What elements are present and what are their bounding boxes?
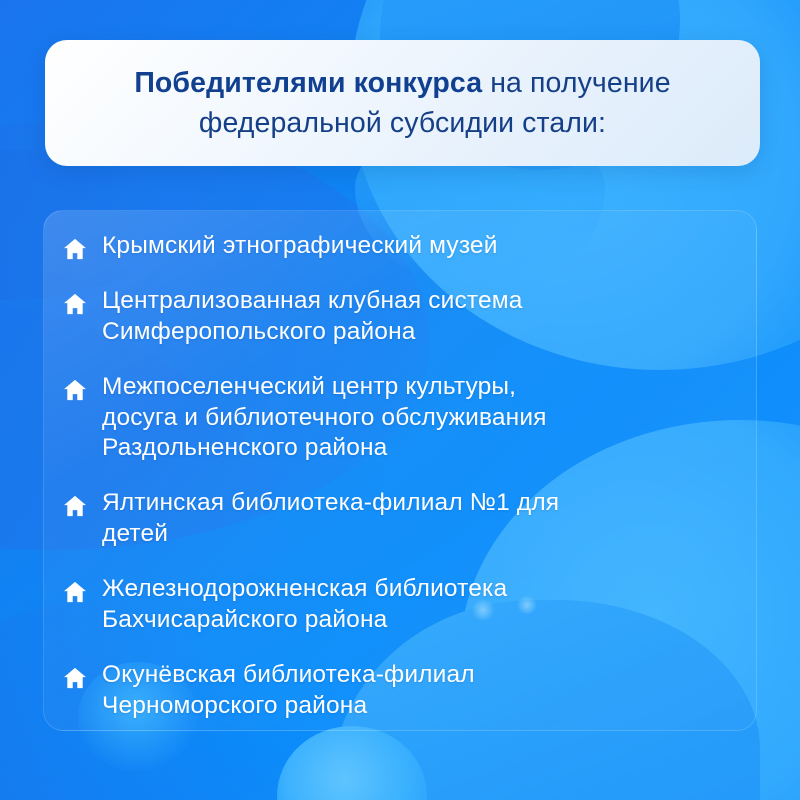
home-icon [62, 291, 88, 317]
page-title: Победителями конкурса на получение федер… [134, 63, 670, 144]
home-icon [62, 377, 88, 403]
list-item: Окунёвская библиотека-филиал Черноморско… [62, 660, 728, 722]
header-card: Победителями конкурса на получение федер… [45, 40, 760, 166]
list-item: Железнодорожненская библиотека Бахчисара… [62, 574, 728, 636]
list-item: Крымский этнографический музей [62, 231, 728, 262]
list-item-label: Крымский этнографический музей [102, 231, 498, 262]
list-item-label: Межпоселенческий центр культуры, досуга … [102, 372, 547, 465]
page-title-rest: на получение [482, 67, 670, 99]
page-title-line2: федеральной субсидии стали: [199, 107, 606, 139]
home-icon [62, 236, 88, 262]
list-item: Ялтинская библиотека-филиал №1 для детей [62, 488, 728, 550]
list-item-label: Железнодорожненская библиотека Бахчисара… [102, 574, 507, 636]
list-item: Межпоселенческий центр культуры, досуга … [62, 372, 728, 465]
winners-list-card: Крымский этнографический музей Централиз… [43, 210, 757, 731]
home-icon [62, 665, 88, 691]
list-item-label: Централизованная клубная система Симферо… [102, 286, 523, 348]
list-item: Централизованная клубная система Симферо… [62, 286, 728, 348]
winners-list: Крымский этнографический музей Централиз… [62, 231, 728, 721]
list-item-label: Окунёвская библиотека-филиал Черноморско… [102, 660, 475, 722]
page-title-emphasis: Победителями конкурса [134, 67, 482, 99]
list-item-label: Ялтинская библиотека-филиал №1 для детей [102, 488, 559, 550]
home-icon [62, 493, 88, 519]
background-blob-ball [277, 726, 427, 800]
home-icon [62, 579, 88, 605]
poster-canvas: Победителями конкурса на получение федер… [0, 0, 800, 800]
